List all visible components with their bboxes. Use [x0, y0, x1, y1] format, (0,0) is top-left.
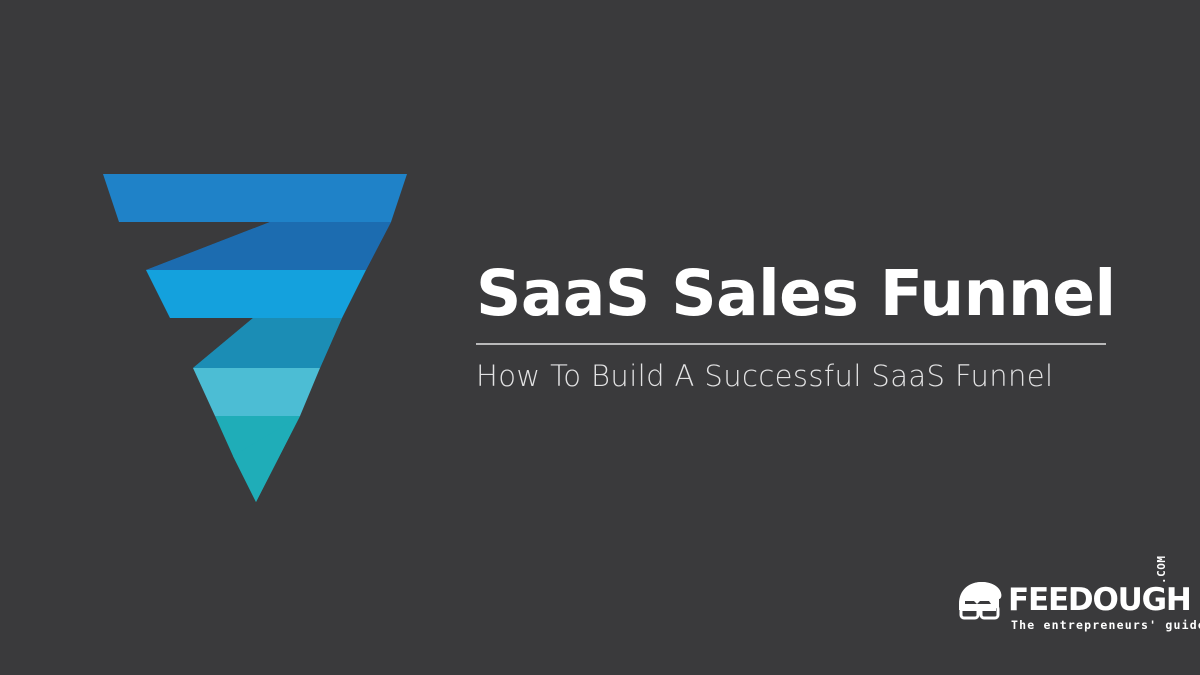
hero-text-block: SaaS Sales Funnel How To Build A Success… — [476, 262, 1108, 393]
title-divider — [476, 343, 1106, 345]
feedough-mascot-icon — [955, 580, 1007, 624]
slide-canvas: SaaS Sales Funnel How To Build A Success… — [0, 0, 1200, 675]
brand-wordmark: FEEDOUGH — [1008, 583, 1191, 617]
page-title: SaaS Sales Funnel — [476, 262, 1108, 325]
funnel-stage-3-band — [193, 368, 320, 416]
funnel-stage-2-band — [146, 270, 366, 318]
funnel-stage-1-band — [103, 174, 407, 222]
funnel-fold-2b — [193, 318, 342, 368]
funnel-fold-1b — [146, 222, 391, 270]
funnel-svg — [90, 160, 430, 520]
page-subtitle: How To Build A Successful SaaS Funnel — [476, 359, 1108, 393]
brand-logo-row: FEEDOUGH .COM The entrepreneurs' guide — [955, 578, 1190, 640]
brand-logo[interactable]: FEEDOUGH .COM The entrepreneurs' guide — [955, 578, 1190, 640]
brand-tagline: The entrepreneurs' guide — [1011, 618, 1200, 632]
brand-tld: .COM — [1155, 556, 1168, 585]
sales-funnel-icon — [90, 160, 430, 520]
